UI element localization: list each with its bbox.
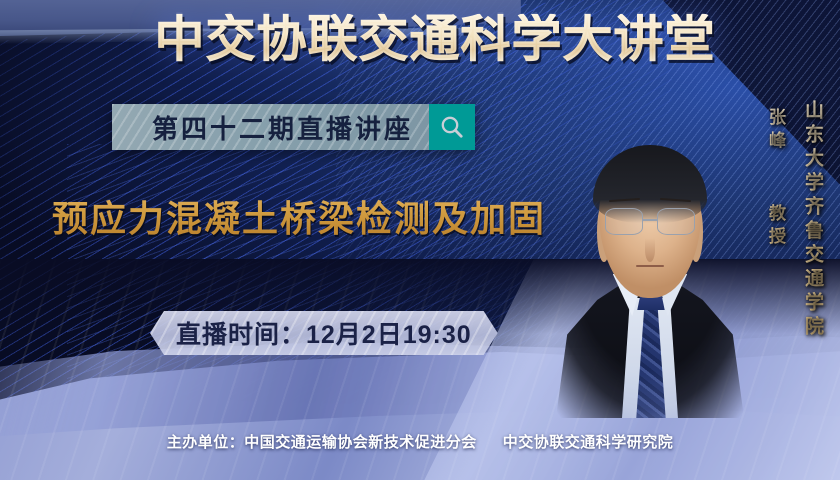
lecture-headline: 预应力混凝土桥梁检测及加固 xyxy=(52,190,546,242)
glasses-icon xyxy=(605,208,695,235)
session-label: 第四十二期直播讲座 xyxy=(152,109,413,146)
footer-organizers: 主办单位：中国交通运输协会新技术促进分会中交协联交通科学研究院 xyxy=(0,431,840,452)
live-time-label: 直播时间：12月2日19:30 xyxy=(176,315,472,351)
footer-organizer-2: 中交协联交通科学研究院 xyxy=(503,434,674,451)
search-icon[interactable] xyxy=(429,104,475,150)
photo-lens-left xyxy=(605,208,643,235)
speaker-photo xyxy=(552,118,748,418)
speaker-institution: 山东大学齐鲁交通学院 xyxy=(799,100,826,340)
footer-prefix: 主办单位： xyxy=(167,434,245,451)
webinar-poster: 中交协联交通科学大讲堂 第四十二期直播讲座 预应力混凝土桥梁检测及加固 直播时间… xyxy=(0,0,840,480)
page-title: 中交协联交通科学大讲堂 xyxy=(0,14,840,64)
photo-nose xyxy=(645,238,655,262)
footer-organizer-1: 中国交通运输协会新技术促进分会 xyxy=(244,434,477,451)
session-banner-body: 第四十二期直播讲座 xyxy=(112,104,429,150)
speaker-name: 张峰 教授 xyxy=(763,108,788,250)
speaker-photo-image xyxy=(552,118,748,418)
photo-lens-right xyxy=(657,208,695,235)
live-time-badge: 直播时间：12月2日19:30 xyxy=(150,311,498,355)
photo-glasses-bridge xyxy=(643,219,657,221)
session-banner: 第四十二期直播讲座 xyxy=(112,104,475,150)
